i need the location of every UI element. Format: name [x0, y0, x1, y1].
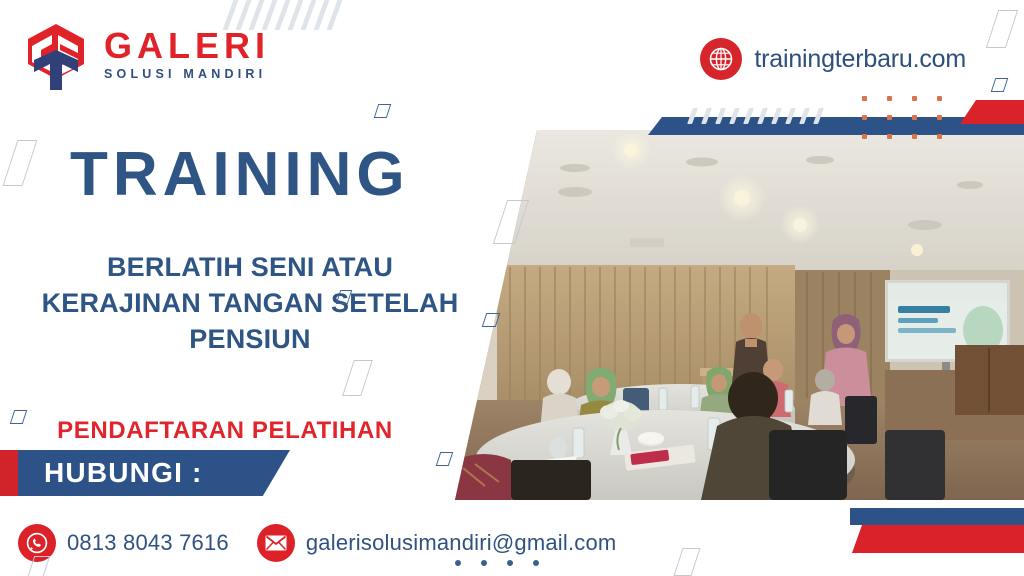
subtitle-line-1: BERLATIH SENI ATAU — [10, 250, 490, 286]
contact-info-row: 0813 8043 7616 galerisolusimandiri@gmail… — [18, 524, 616, 562]
registration-label: PENDAFTARAN PELATIHAN — [10, 417, 440, 445]
contact-banner-label: HUBUNGI : — [44, 450, 203, 496]
decor-parallelogram-2 — [374, 104, 392, 118]
envelope-icon[interactable] — [257, 524, 295, 562]
decor-parallelogram-1 — [3, 140, 38, 186]
training-photo — [455, 130, 1024, 500]
photo-bottom-red-shape — [852, 525, 1024, 553]
brand-logo[interactable]: GALERI SOLUSI MANDIRI — [22, 22, 322, 92]
poster-canvas: GALERI SOLUSI MANDIRI trainingterbaru.co… — [0, 0, 1024, 576]
website-url: trainingterbaru.com — [754, 45, 966, 74]
photo-illustration — [455, 130, 1024, 500]
phone-number[interactable]: 0813 8043 7616 — [67, 530, 229, 556]
photo-top-red-shape — [960, 100, 1024, 124]
subtitle-line-2: KERAJINAN TANGAN SETELAH — [10, 286, 490, 322]
website-badge[interactable]: trainingterbaru.com — [700, 38, 966, 80]
decor-parallelogram-6 — [342, 360, 373, 396]
subtitle-line-3: PENSIUN — [10, 322, 490, 358]
brand-tagline: SOLUSI MANDIRI — [104, 68, 270, 81]
photo-bottom-blue-bar — [850, 508, 1024, 525]
page-subtitle: BERLATIH SENI ATAU KERAJINAN TANGAN SETE… — [10, 250, 490, 358]
decor-parallelogram-8 — [436, 452, 454, 466]
decor-parallelogram-10 — [986, 10, 1018, 48]
contact-banner: HUBUNGI : — [0, 450, 290, 496]
email-address[interactable]: galerisolusimandiri@gmail.com — [306, 530, 617, 556]
decor-parallelogram-9 — [991, 78, 1009, 92]
dot-grid-decoration — [862, 96, 942, 139]
galeri-hexagon-logo-icon — [22, 22, 90, 90]
brand-name: GALERI — [104, 28, 270, 64]
page-title: TRAINING — [70, 142, 470, 207]
globe-icon — [700, 38, 742, 80]
footer-dots-decoration — [455, 560, 539, 566]
brand-text: GALERI SOLUSI MANDIRI — [104, 28, 270, 81]
decor-parallelogram-11 — [673, 548, 700, 576]
